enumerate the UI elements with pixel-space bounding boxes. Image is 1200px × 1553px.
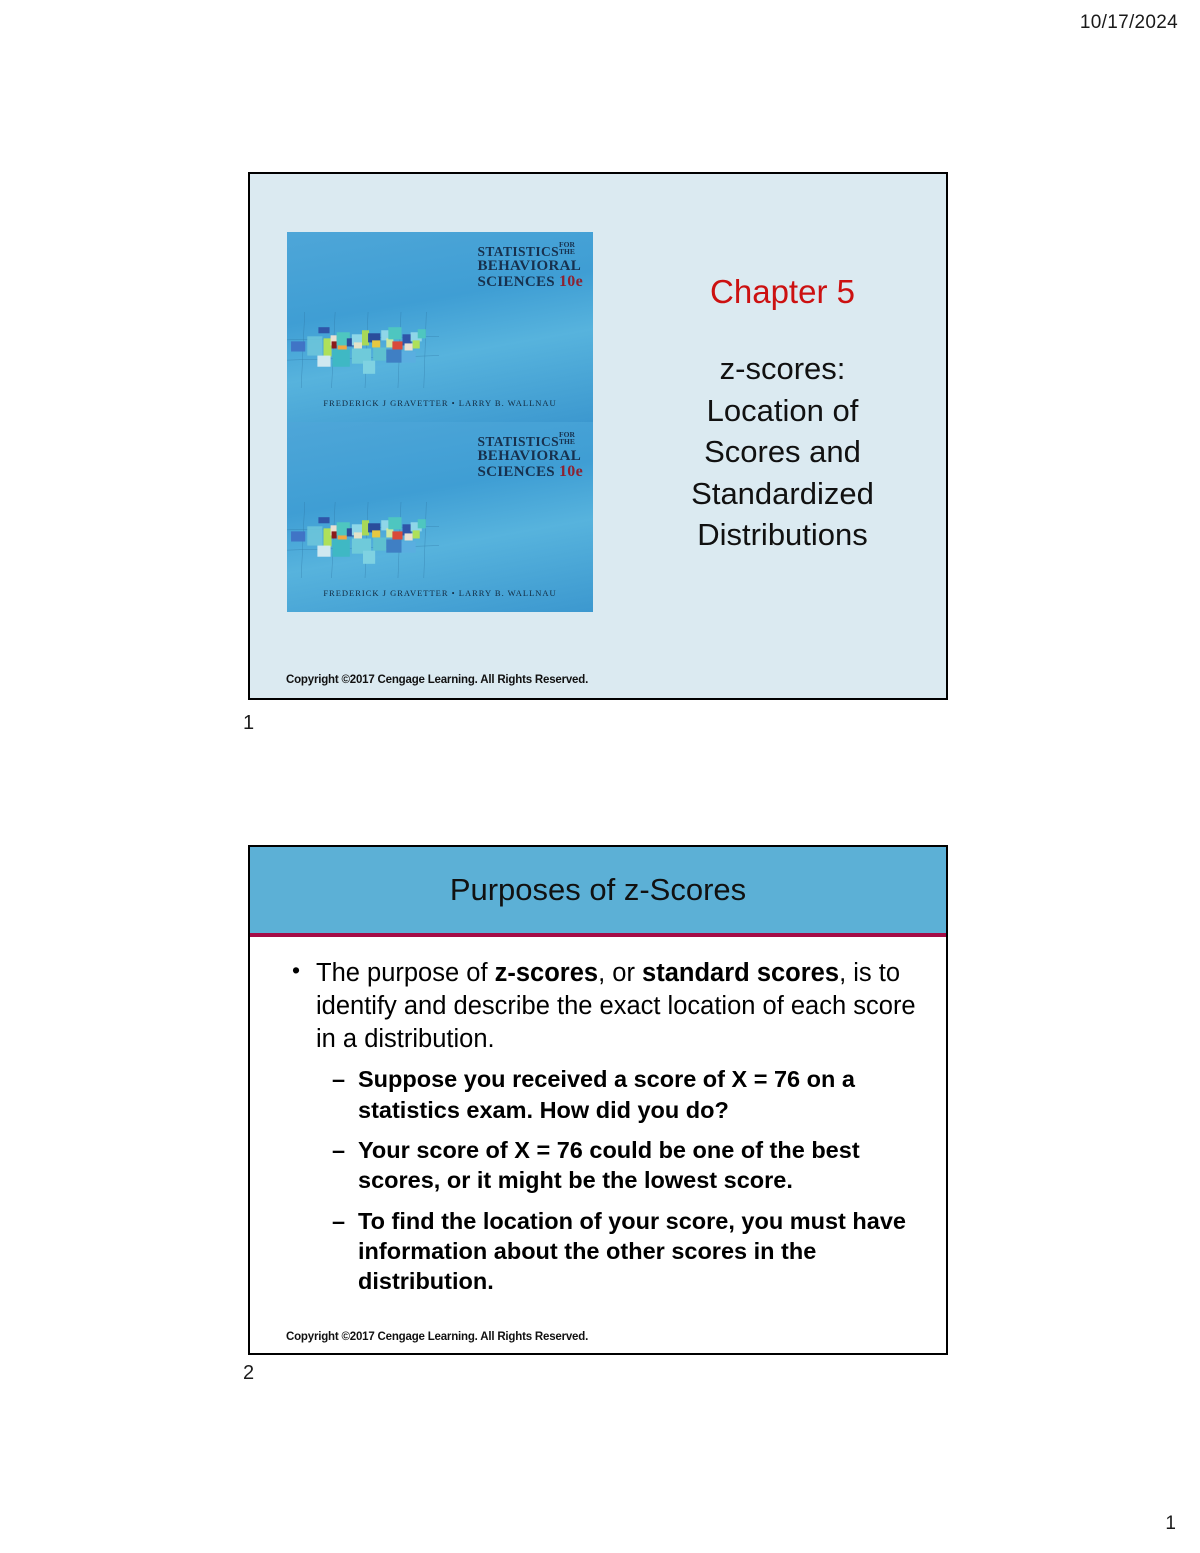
book-authors: FREDERICK J GRAVETTER • LARRY B. WALLNAU [287, 398, 593, 408]
dash-marker: – [332, 1135, 345, 1165]
slide-number-1: 1 [243, 712, 254, 735]
chapter-label: Chapter 5 [640, 274, 925, 310]
slide-2-purposes: Purposes of z-Scores • The purpose of z-… [248, 845, 948, 1355]
bullet-marker: • [292, 956, 300, 986]
book-cover-artwork-icon [287, 502, 439, 578]
bullet-text-part: , or [598, 959, 642, 987]
book-cover-artwork-icon [287, 312, 439, 388]
book-title-sup-the: THE [559, 437, 575, 446]
book-title-line2: BEHAVIORAL [477, 259, 583, 274]
sub-bullet-text: Your score of X = 76 could be one of the… [358, 1137, 860, 1193]
bullet-text-part-bold: z-scores [495, 959, 598, 987]
slide-2-header-bar: Purposes of z-Scores [250, 847, 946, 937]
book-edition: 10e [559, 463, 583, 480]
sub-bullet-text: To find the location of your score, you … [358, 1208, 906, 1295]
bullet-text: The purpose of z-scores, or standard sco… [316, 959, 916, 1053]
subtitle-line: z-scores: [640, 348, 925, 390]
book-cover-bottom: STATISTICSFORTHE BEHAVIORAL SCIENCES 10e… [287, 422, 593, 612]
slide-2-body: • The purpose of z-scores, or standard s… [250, 937, 946, 1297]
subtitle-line: Standardized [640, 473, 925, 515]
copyright-notice: Copyright ©2017 Cengage Learning. All Ri… [286, 674, 588, 686]
list-item: – Suppose you received a score of X = 76… [332, 1064, 918, 1125]
book-title-sup-the: THE [559, 247, 575, 256]
list-item: – Your score of X = 76 could be one of t… [332, 1135, 918, 1196]
slide-1-subtitle: z-scores: Location of Scores and Standar… [640, 348, 925, 556]
slide-1-title-block: Chapter 5 z-scores: Location of Scores a… [640, 274, 925, 556]
slide-2-title: Purposes of z-Scores [450, 872, 746, 908]
book-title-line1: STATISTICS [477, 244, 559, 259]
bullet-list: • The purpose of z-scores, or standard s… [288, 957, 918, 1297]
list-item: – To find the location of your score, yo… [332, 1206, 918, 1297]
book-authors: FREDERICK J GRAVETTER • LARRY B. WALLNAU [287, 588, 593, 598]
dash-marker: – [332, 1206, 345, 1236]
bullet-text-part: The purpose of [316, 959, 495, 987]
book-title-line3: SCIENCES [477, 274, 554, 290]
book-title-line1: STATISTICS [477, 434, 559, 449]
book-edition: 10e [559, 273, 583, 290]
slide-1-title: STATISTICSFORTHE BEHAVIORAL SCIENCES 10e… [248, 172, 948, 700]
book-title-text: STATISTICSFORTHE BEHAVIORAL SCIENCES 10e [477, 431, 583, 481]
page-number: 1 [1165, 1513, 1176, 1535]
slide-number-2: 2 [243, 1362, 254, 1385]
book-title-line3: SCIENCES [477, 464, 554, 480]
page-date: 10/17/2024 [1080, 12, 1178, 34]
subtitle-line: Location of [640, 390, 925, 432]
sub-bullet-text: Suppose you received a score of X = 76 o… [358, 1066, 855, 1122]
dash-marker: – [332, 1064, 345, 1094]
bullet-text-part-bold: standard scores [642, 959, 839, 987]
list-item: • The purpose of z-scores, or standard s… [288, 957, 918, 1297]
copyright-notice: Copyright ©2017 Cengage Learning. All Ri… [286, 1331, 588, 1343]
book-title-line2: BEHAVIORAL [477, 449, 583, 464]
sub-bullet-list: – Suppose you received a score of X = 76… [332, 1064, 918, 1296]
subtitle-line: Distributions [640, 514, 925, 556]
subtitle-line: Scores and [640, 431, 925, 473]
book-cover-image: STATISTICSFORTHE BEHAVIORAL SCIENCES 10e… [287, 232, 593, 612]
book-cover-top: STATISTICSFORTHE BEHAVIORAL SCIENCES 10e… [287, 232, 593, 422]
book-title-text: STATISTICSFORTHE BEHAVIORAL SCIENCES 10e [477, 241, 583, 291]
